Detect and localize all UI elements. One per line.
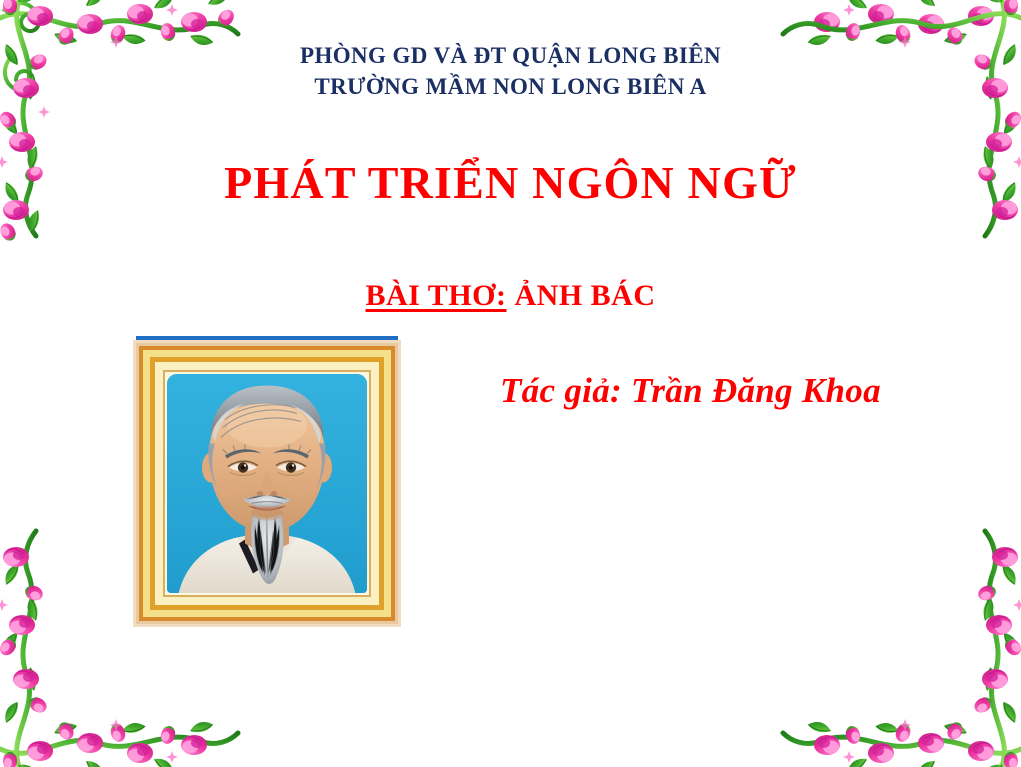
poem-name: ẢNH BÁC — [514, 279, 655, 312]
poem-label: BÀI THƠ: — [366, 279, 507, 312]
portrait-frame — [133, 336, 401, 627]
slide-canvas: PHÒNG GD VÀ ĐT QUẬN LONG BIÊN TRƯỜNG MẦM… — [0, 0, 1021, 767]
corner-decoration-bottom-right-icon — [777, 525, 1021, 767]
frame-outer-border — [133, 340, 401, 627]
header-line-school: TRƯỜNG MẦM NON LONG BIÊN A — [0, 72, 1021, 101]
page-title: PHÁT TRIỂN NGÔN NGỮ — [0, 157, 1021, 209]
portrait-photo-ho-chi-minh — [167, 374, 367, 593]
author-line: Tác giả: Trần Đăng Khoa — [500, 369, 881, 413]
school-header: PHÒNG GD VÀ ĐT QUẬN LONG BIÊN TRƯỜNG MẦM… — [0, 41, 1021, 101]
header-line-department: PHÒNG GD VÀ ĐT QUẬN LONG BIÊN — [0, 41, 1021, 70]
poem-subtitle: BÀI THƠ: ẢNH BÁC — [0, 277, 1021, 315]
